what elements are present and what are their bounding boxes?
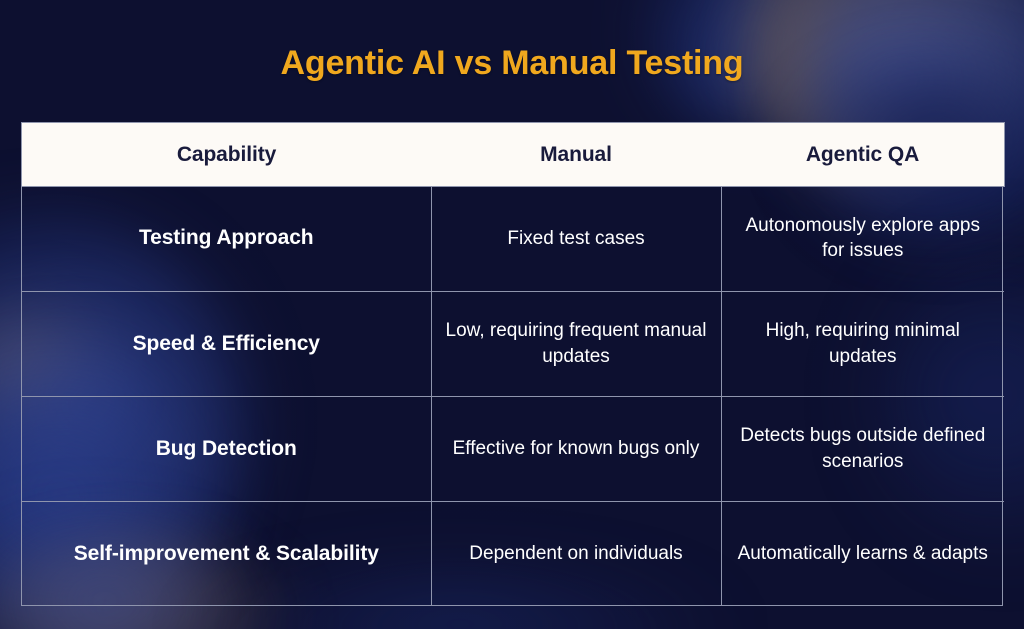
table-row: Testing Approach Fixed test cases Autono… [22,186,1004,291]
cell-capability: Testing Approach [22,186,431,291]
table-body: Testing Approach Fixed test cases Autono… [22,186,1004,606]
cell-manual: Effective for known bugs only [431,396,721,501]
page-title: Agentic AI vs Manual Testing [0,44,1024,83]
column-header-capability: Capability [22,123,431,186]
comparison-table: Capability Manual Agentic QA Testing App… [22,123,1004,606]
cell-agentic-qa: Detects bugs outside defined scenarios [721,396,1004,501]
table-header-row: Capability Manual Agentic QA [22,123,1004,186]
table-row: Speed & Efficiency Low, requiring freque… [22,291,1004,396]
table-row: Bug Detection Effective for known bugs o… [22,396,1004,501]
infographic-canvas: Agentic AI vs Manual Testing Capability … [0,0,1024,629]
cell-agentic-qa: High, requiring minimal updates [721,291,1004,396]
cell-capability: Bug Detection [22,396,431,501]
column-header-manual: Manual [431,123,721,186]
cell-capability: Self-improvement & Scalability [22,501,431,606]
cell-capability: Speed & Efficiency [22,291,431,396]
cell-manual: Dependent on individuals [431,501,721,606]
comparison-table-container: Capability Manual Agentic QA Testing App… [21,123,1003,606]
cell-manual: Low, requiring frequent manual updates [431,291,721,396]
table-header: Capability Manual Agentic QA [22,123,1004,186]
column-header-agentic-qa: Agentic QA [721,123,1004,186]
cell-agentic-qa: Automatically learns & adapts [721,501,1004,606]
cell-agentic-qa: Autonomously explore apps for issues [721,186,1004,291]
cell-manual: Fixed test cases [431,186,721,291]
table-row: Self-improvement & Scalability Dependent… [22,501,1004,606]
